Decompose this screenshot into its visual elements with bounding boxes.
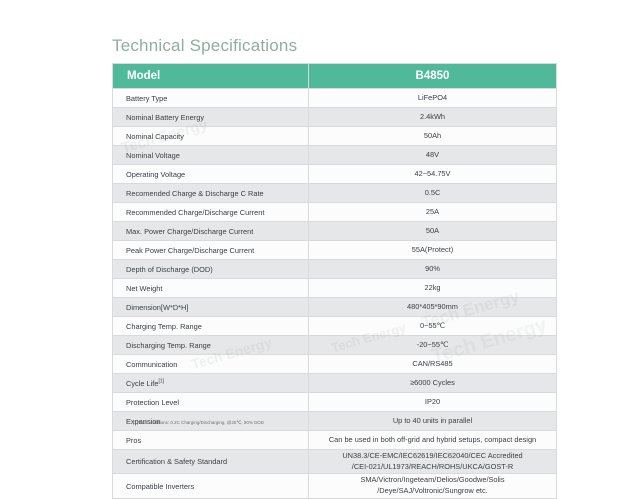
spec-value-cell: Can be used in both off-grid and hybrid …: [309, 431, 557, 450]
table-row: Cycle Life[1]≥6000 Cycles: [113, 374, 557, 393]
table-row: Recomended Charge & Discharge C Rate0.5C: [113, 184, 557, 203]
spec-value-cell: 25A: [309, 203, 557, 222]
table-row: Peak Power Charge/Discharge Current55A(P…: [113, 241, 557, 260]
spec-label-cell: Discharging Temp. Range: [113, 336, 309, 355]
header-cell-model: Model: [113, 64, 309, 89]
spec-label-cell: Nominal Battery Energy: [113, 108, 309, 127]
table-row: CommunicationCAN/RS485: [113, 355, 557, 374]
table-row: Compatible InvertersSMA/Victron/Ingeteam…: [113, 474, 557, 498]
spec-label-cell: Certification & Safety Standard: [113, 450, 309, 474]
table-row: Max. Power Charge/Discharge Current50A: [113, 222, 557, 241]
specification-page: Tech Energy Tech Energy Tech Energy Tech…: [0, 0, 640, 480]
spec-label-cell: Net Weight: [113, 279, 309, 298]
table-row: Net Weight22kg: [113, 279, 557, 298]
spec-label-cell: Charging Temp. Range: [113, 317, 309, 336]
spec-label-cell: Max. Power Charge/Discharge Current: [113, 222, 309, 241]
spec-value-cell: 22kg: [309, 279, 557, 298]
spec-value-cell: ≥6000 Cycles: [309, 374, 557, 393]
table-row: Dimension[W*D*H]480*405*90mm: [113, 298, 557, 317]
spec-value-cell: 42~54.75V: [309, 165, 557, 184]
spec-label-cell: Cycle Life[1]: [113, 374, 309, 393]
table-row: Depth of Discharge (DOD)90%: [113, 260, 557, 279]
table-row: Certification & Safety StandardUN38.3/CE…: [113, 450, 557, 474]
spec-value-cell: IP20: [309, 393, 557, 412]
spec-label-cell: Nominal Voltage: [113, 146, 309, 165]
spec-label-cell: Dimension[W*D*H]: [113, 298, 309, 317]
spec-value-line: /Deye/SAJ/Voltronic/Sungrow etc.: [313, 486, 552, 497]
spec-value-cell: Up to 40 units in parallel: [309, 412, 557, 431]
spec-value-cell: 48V: [309, 146, 557, 165]
spec-value-cell: 480*405*90mm: [309, 298, 557, 317]
spec-value-cell: 50Ah: [309, 127, 557, 146]
table-row: Protection LevelIP20: [113, 393, 557, 412]
spec-value-cell: 0~55℃: [309, 317, 557, 336]
table-footnote: [1]Test conditions: 0.2C Charging/Discha…: [133, 420, 264, 426]
spec-label-cell: Battery Type: [113, 89, 309, 108]
table-row: ProsCan be used in both off-grid and hyb…: [113, 431, 557, 450]
table-row: Discharging Temp. Range-20~55℃: [113, 336, 557, 355]
spec-label-cell: Nominal Capacity: [113, 127, 309, 146]
table-row: Recommended Charge/Discharge Current25A: [113, 203, 557, 222]
spec-value-cell: -20~55℃: [309, 336, 557, 355]
spec-value-cell: SMA/Victron/Ingeteam/Delios/Goodwe/Solis…: [309, 474, 557, 498]
spec-value-cell: LiFePO4: [309, 89, 557, 108]
spec-value-cell: UN38.3/CE-EMC/IEC62619/IEC62040/CEC Accr…: [309, 450, 557, 474]
footnote-marker: [1]: [158, 378, 164, 384]
table-row: Nominal Battery Energy2.4kWh: [113, 108, 557, 127]
spec-label-cell: Recommended Charge/Discharge Current: [113, 203, 309, 222]
table-row: Nominal Capacity50Ah: [113, 127, 557, 146]
spec-label-cell: Protection Level: [113, 393, 309, 412]
table-row: Operating Voltage42~54.75V: [113, 165, 557, 184]
table-row: Charging Temp. Range0~55℃: [113, 317, 557, 336]
spec-value-cell: 50A: [309, 222, 557, 241]
spec-label-cell: Operating Voltage: [113, 165, 309, 184]
spec-value-line: /CEI-021/UL1973/REACH/ROHS/UKCA/GOST-R: [313, 462, 552, 473]
spec-value-line: SMA/Victron/Ingeteam/Delios/Goodwe/Solis: [313, 475, 552, 486]
spec-value-cell: 0.5C: [309, 184, 557, 203]
spec-label-cell: Compatible Inverters: [113, 474, 309, 498]
specifications-table: Model B4850 Battery TypeLiFePO4Nominal B…: [112, 63, 557, 499]
spec-label-cell: Recomended Charge & Discharge C Rate: [113, 184, 309, 203]
page-title: Technical Specifications: [112, 36, 297, 56]
spec-label-cell: Depth of Discharge (DOD): [113, 260, 309, 279]
table-header-row: Model B4850: [113, 64, 557, 89]
header-cell-model-value: B4850: [309, 64, 557, 89]
spec-label-cell: Pros: [113, 431, 309, 450]
spec-value-cell: 55A(Protect): [309, 241, 557, 260]
spec-label-cell: Communication: [113, 355, 309, 374]
table-body: Battery TypeLiFePO4Nominal Battery Energ…: [113, 89, 557, 499]
table-row: Battery TypeLiFePO4: [113, 89, 557, 108]
spec-value-cell: 2.4kWh: [309, 108, 557, 127]
table-row: Nominal Voltage48V: [113, 146, 557, 165]
table-header: Model B4850: [113, 64, 557, 89]
spec-value-line: UN38.3/CE-EMC/IEC62619/IEC62040/CEC Accr…: [313, 451, 552, 462]
spec-label-cell: Peak Power Charge/Discharge Current: [113, 241, 309, 260]
spec-value-cell: 90%: [309, 260, 557, 279]
spec-value-cell: CAN/RS485: [309, 355, 557, 374]
